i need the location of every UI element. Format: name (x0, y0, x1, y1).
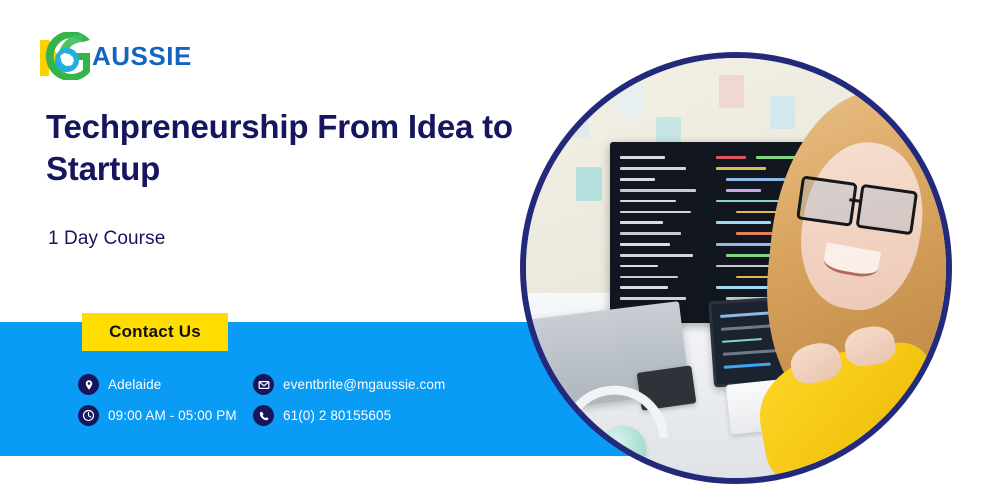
contact-phone[interactable]: 61(0) 2 80155605 (253, 405, 445, 426)
contact-hours-text: 09:00 AM - 05:00 PM (108, 408, 237, 423)
contact-location-text: Adelaide (108, 377, 161, 392)
contact-email-text: eventbrite@mgaussie.com (283, 377, 445, 392)
hero-photo (520, 52, 952, 484)
contact-us-button[interactable]: Contact Us (82, 313, 228, 351)
sticky-note (618, 83, 643, 117)
contact-email[interactable]: eventbrite@mgaussie.com (253, 374, 445, 395)
sticky-note (576, 167, 601, 201)
clock-icon (78, 405, 99, 426)
sticky-note (719, 75, 744, 109)
contact-location[interactable]: Adelaide (78, 374, 253, 395)
course-duration-subtitle: 1 Day Course (48, 228, 165, 250)
contact-hours[interactable]: 09:00 AM - 05:00 PM (78, 405, 253, 426)
headphones (551, 386, 652, 470)
sticky-note (560, 100, 589, 138)
contact-phone-text: 61(0) 2 80155605 (283, 408, 391, 423)
contact-details: Adelaide eventbrite@mgaussie.com 09:00 A… (78, 374, 445, 426)
brand-wordmark: AUSSIE (92, 43, 192, 69)
envelope-icon (253, 374, 274, 395)
location-pin-icon (78, 374, 99, 395)
event-banner: AUSSIE Techpreneurship From Idea to Star… (0, 0, 1000, 500)
hero-photo-scene (526, 58, 946, 478)
mg-aussie-logo-icon (36, 32, 94, 80)
sticky-note (770, 96, 795, 130)
phone-icon (253, 405, 274, 426)
page-title: Techpreneurship From Idea to Startup (46, 106, 516, 190)
brand-logo[interactable]: AUSSIE (36, 32, 192, 80)
